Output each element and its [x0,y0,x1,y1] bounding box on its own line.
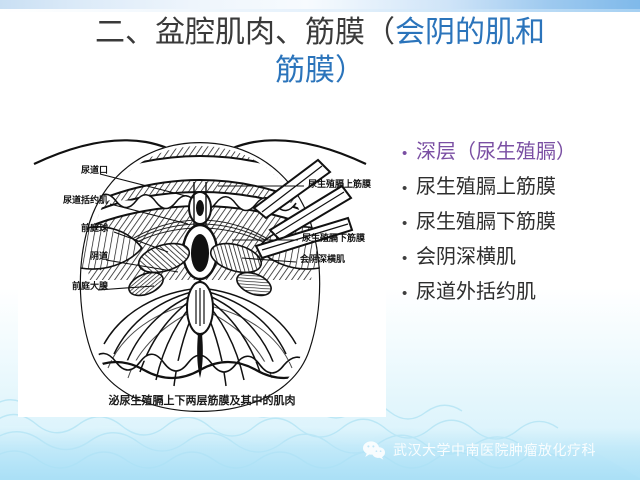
bullet-dot-icon: • [402,139,416,169]
figure-label-left-0: 尿道口 [18,166,108,177]
page-title-line1-plain: 二、盆腔肌肉、筋膜（ [95,15,395,50]
list-item[interactable]: • 尿生殖膈下筋膜 [402,206,638,239]
list-item[interactable]: • 会阴深横肌 [402,241,638,274]
list-item[interactable]: • 深层（尿生殖膈） [402,136,638,169]
top-accent-bar-edge [0,9,640,12]
list-item[interactable]: • 尿生殖膈上筋膜 [402,171,638,204]
page-title: 二、盆腔肌肉、筋膜（会阴的肌和 筋膜） [40,14,600,90]
bullet-list: • 深层（尿生殖膈） • 尿生殖膈上筋膜 • 尿生殖膈下筋膜 • 会阴深横肌 •… [402,136,638,311]
list-item-label: 尿道外括约肌 [416,276,536,306]
figure-label-left-2: 前庭球 [18,224,108,235]
list-item-label: 尿生殖膈下筋膜 [416,206,556,236]
figure-label-right-1: 尿生殖膈下筋膜 [302,234,365,245]
watermark-label: 武汉大学中南医院肿瘤放化疗科 [393,440,596,460]
bullet-dot-icon: • [402,244,416,274]
wechat-icon [362,440,386,460]
figure-label-left-1: 尿道括约肌 [18,196,108,207]
list-item-label: 会阴深横肌 [416,241,516,271]
slide: 二、盆腔肌肉、筋膜（会阴的肌和 筋膜） [0,0,640,480]
top-accent-bar [0,0,640,9]
figure-label-left-4: 前庭大腺 [18,282,108,293]
anatomy-figure: 尿道口 尿道括约肌 前庭球 阴道 前庭大腺 尿生殖膈上筋膜 尿生殖膈下筋膜 会阴… [18,112,386,417]
list-item-label: 深层（尿生殖膈） [416,136,576,166]
list-item-label: 尿生殖膈上筋膜 [416,171,556,201]
figure-label-right-2: 会阴深横肌 [300,255,345,266]
list-item[interactable]: • 尿道外括约肌 [402,276,638,309]
figure-label-right-0: 尿生殖膈上筋膜 [308,180,371,191]
figure-caption: 泌尿生殖膈上下两层筋膜及其中的肌肉 [18,392,386,408]
figure-label-left-3: 阴道 [18,252,108,263]
bullet-dot-icon: • [402,209,416,239]
watermark: 武汉大学中南医院肿瘤放化疗科 [362,440,596,460]
bullet-dot-icon: • [402,174,416,204]
page-title-line1-accent: 会阴的肌和 [395,15,545,50]
page-title-line2-accent: 筋膜） [40,52,600,90]
bullet-dot-icon: • [402,279,416,309]
